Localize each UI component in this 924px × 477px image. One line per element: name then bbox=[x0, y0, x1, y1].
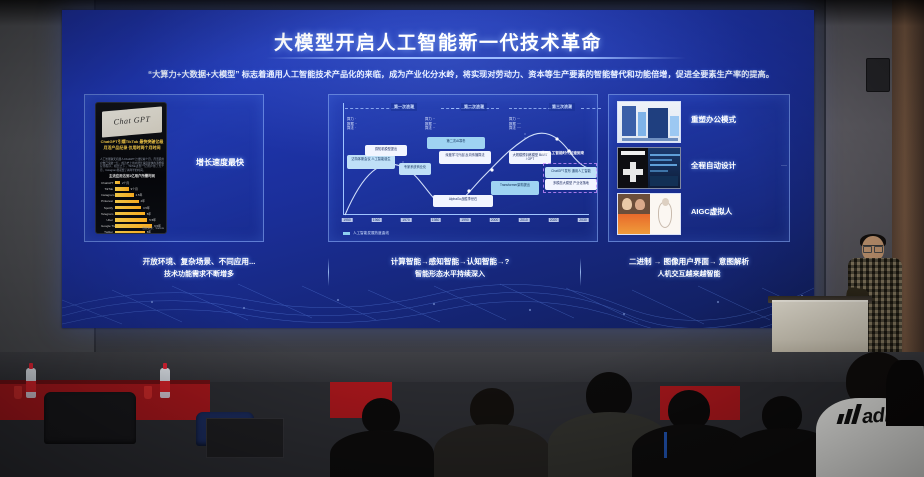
caption-2: 二进制 → 图像用户界面→ 意图解析人机交互越来越智能 bbox=[584, 256, 794, 281]
chatgpt-bar-row: TikTok9个月 bbox=[101, 186, 163, 192]
application-more-dots: ··· bbox=[781, 163, 787, 169]
title-underline bbox=[266, 57, 686, 59]
timeline-tick: 1970 bbox=[401, 218, 412, 222]
timeline-legend: 人工智能发展热度曲线 bbox=[343, 231, 389, 236]
chatgpt-news-card: Chat GPT ChatGPT引爆TikTok 最快突破亿级月活产品纪录 仅用… bbox=[95, 102, 167, 234]
chatgpt-bar-row: Pinterest4年 bbox=[101, 199, 163, 205]
glasses-icon bbox=[863, 245, 883, 250]
foreground-head-2 bbox=[886, 360, 924, 426]
application-label-0: 重塑办公模式 bbox=[691, 114, 736, 125]
chatgpt-card-subtitle: ChatGPT引爆TikTok 最快突破亿级月活产品纪录 仅用时两个月时间 bbox=[100, 139, 164, 150]
timeline-tick: 1990 bbox=[460, 218, 471, 222]
foreground-wall bbox=[0, 352, 924, 382]
application-item-2: AIGC虚拟人 bbox=[617, 193, 783, 237]
application-label-2: AIGC虚拟人 bbox=[691, 206, 732, 217]
timeline-event-box: 达特茅斯会议 人工智能诞生 bbox=[347, 155, 395, 169]
lanyard bbox=[664, 432, 667, 458]
chatgpt-bar-row: Spotify4.5年 bbox=[101, 205, 163, 211]
chair-1 bbox=[44, 392, 136, 444]
chatgpt-chart-source: 数据来源：Statista bbox=[100, 226, 164, 230]
wall-speaker-icon bbox=[866, 58, 890, 92]
left-panel-label: 增长速度最快 bbox=[177, 157, 263, 168]
slide-captions: 开放环境、复杂场景、不同应用...技术功能需求不断增多 计算智能→感知智能→认知… bbox=[84, 256, 794, 300]
chatgpt-bar-row: Instagram2.5年 bbox=[101, 192, 163, 198]
caption-1: 计算智能→感知智能→认知智能→?智能形态水平持续深入 bbox=[336, 256, 564, 281]
timeline-tick: 2010 bbox=[519, 218, 530, 222]
timeline-event-box: 专家系统商业化 bbox=[399, 163, 431, 175]
conference-room-photo: 大模型开启人工智能新一代技术革命 “大算力+大数据+大模型” 标志着通用人工智能… bbox=[0, 0, 924, 477]
chatgpt-bar-row: ChatGPT2个月 bbox=[101, 180, 163, 186]
cup-2 bbox=[144, 386, 152, 399]
slide-panels: Chat GPT ChatGPT引爆TikTok 最快突破亿级月活产品纪录 仅用… bbox=[84, 94, 794, 249]
application-item-1: 全程自动设计 ··· bbox=[617, 147, 783, 191]
chatgpt-chart-label: 主流应用达到1亿用户所需时间 bbox=[100, 173, 164, 178]
slide-subtitle: “大算力+大数据+大模型” 标志着通用人工智能技术产品化的来临，成为产业化分水岭… bbox=[148, 68, 808, 82]
timeline-event-box: 深度学习兴起 反向传播算法 bbox=[439, 151, 491, 164]
audience-shoulders-2 bbox=[434, 424, 550, 477]
projection-screen: 大模型开启人工智能新一代技术革命 “大算力+大数据+大模型” 标志着通用人工智能… bbox=[62, 10, 814, 328]
audience-shoulders-1 bbox=[330, 430, 434, 477]
adidas-stripes-icon bbox=[838, 404, 864, 424]
timeline-tick: 1960 bbox=[371, 218, 382, 222]
timeline-event-box: 第二次AI寒冬 bbox=[427, 137, 485, 149]
slide-title: 大模型开启人工智能新一代技术革命 bbox=[62, 28, 814, 55]
chatgpt-bar-row: Twitter5年 bbox=[101, 230, 163, 235]
timeline-tick: 1980 bbox=[430, 218, 441, 222]
audience-head-1 bbox=[362, 398, 400, 434]
chatgpt-bar-row: Uber5.5年 bbox=[101, 217, 163, 223]
application-item-0: 重塑办公模式 bbox=[617, 101, 783, 145]
aigc-avatar-thumbnail bbox=[617, 193, 681, 235]
chatgpt-card-title: Chat GPT bbox=[102, 113, 162, 127]
chatgpt-bar-row: Telegram5年 bbox=[101, 211, 163, 217]
timeline-event-box: Transformer架构提出 bbox=[491, 181, 539, 195]
cup-1 bbox=[14, 386, 22, 399]
timeline-tick: 1950 bbox=[342, 218, 353, 222]
application-label-1: 全程自动设计 bbox=[691, 160, 736, 171]
panel-ai-timeline: 第一次浪潮 第二次浪潮 第三次浪潮 bbox=[328, 94, 598, 242]
caption-0: 开放环境、复杂场景、不同应用...技术功能需求不断增多 bbox=[84, 256, 314, 281]
timeline-tick: 2000 bbox=[489, 218, 500, 222]
timeline-tick: 2030 bbox=[578, 218, 589, 222]
panel-ai-applications: 重塑办公模式 全程自动设计 ··· bbox=[608, 94, 790, 242]
timeline-event-box: 感知机模型提出 bbox=[365, 145, 407, 156]
office-productivity-thumbnail bbox=[617, 101, 681, 143]
water-bottle-1 bbox=[26, 368, 36, 398]
chatgpt-card-banner: Chat GPT bbox=[102, 106, 162, 137]
water-bottle-2 bbox=[160, 368, 170, 398]
auto-design-thumbnail bbox=[617, 147, 681, 189]
panel-chatgpt-growth: Chat GPT ChatGPT引爆TikTok 最快突破亿级月活产品纪录 仅用… bbox=[84, 94, 264, 242]
laptop-1 bbox=[206, 418, 284, 458]
timeline-tick: 2020 bbox=[548, 218, 559, 222]
chatgpt-card-body: 人工智能聊天机器人ChatGPT上线仅两个月，月活跃用户数已突破一亿，成为史上用… bbox=[100, 158, 164, 172]
timeline-event-box: AlphaGo战胜李世石 bbox=[433, 195, 493, 207]
